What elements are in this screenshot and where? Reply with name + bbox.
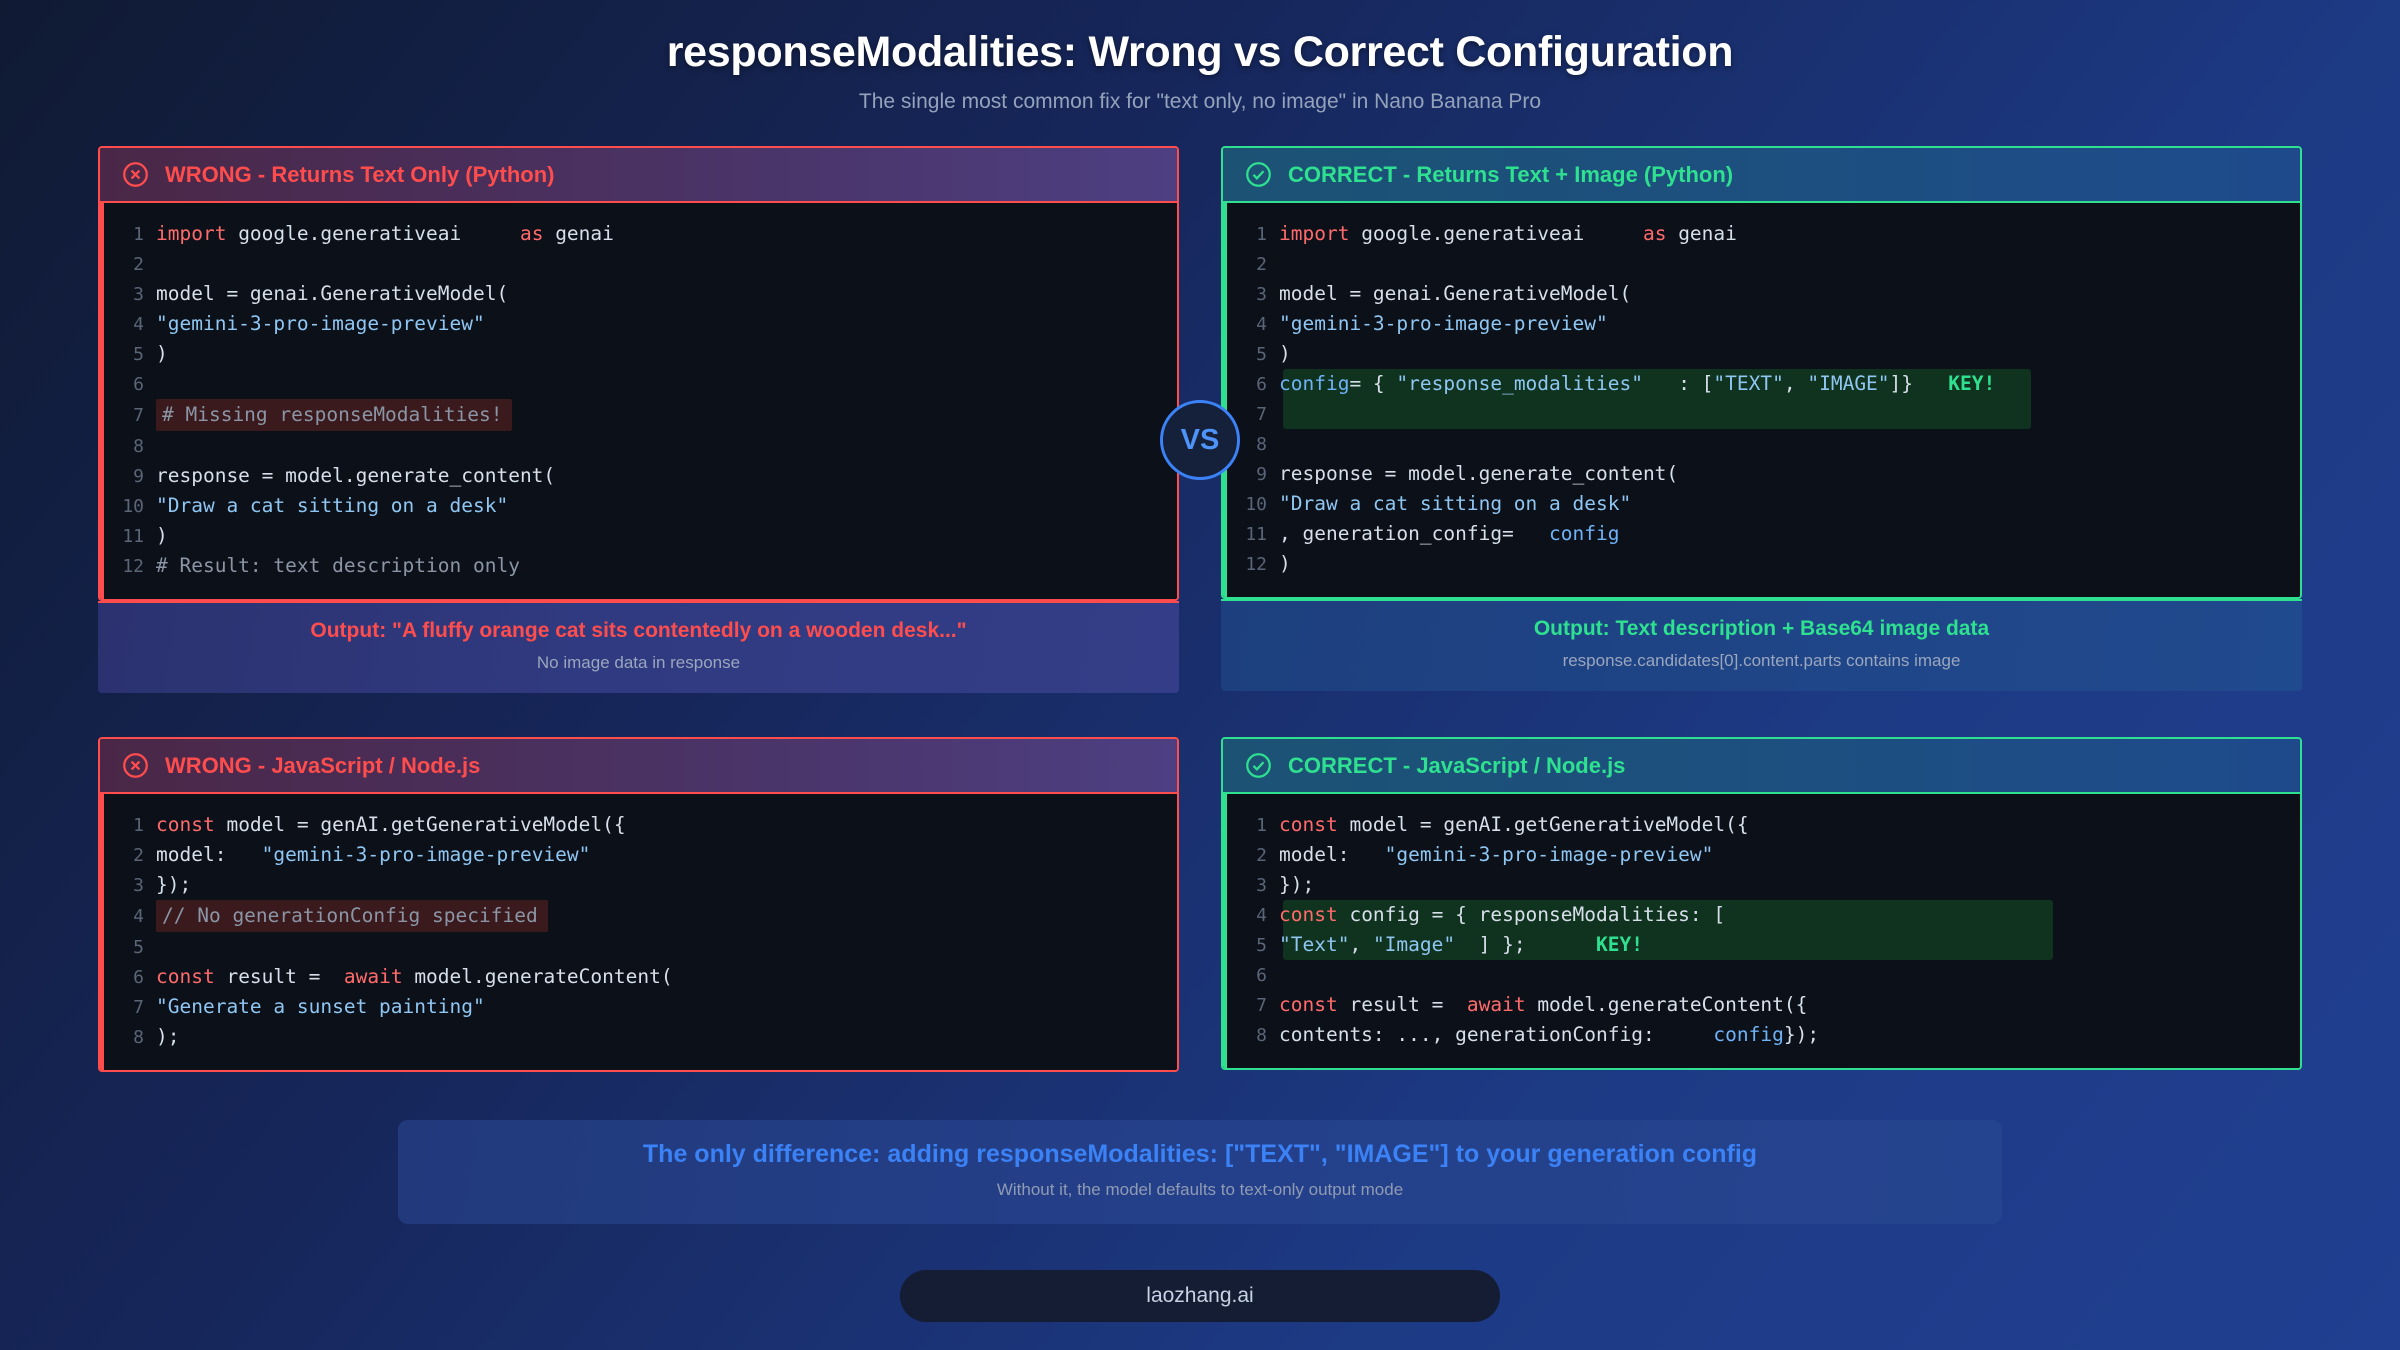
code-line: 4"gemini-3-pro-image-preview" <box>104 309 1177 339</box>
line-number: 9 <box>1227 460 1279 489</box>
code-line: 6const result = await model.generateCont… <box>104 962 1177 992</box>
line-number: 10 <box>104 492 156 521</box>
line-number: 5 <box>1227 340 1279 369</box>
line-number: 5 <box>1227 931 1279 960</box>
line-number: 11 <box>1227 520 1279 549</box>
code-text: import google.generativeai as genai <box>156 219 614 248</box>
line-number: 6 <box>104 963 156 992</box>
python-wrong-code[interactable]: 1import google.generativeai as genai2 3m… <box>100 203 1177 599</box>
code-line: 2model: "gemini-3-pro-image-preview" <box>104 840 1177 870</box>
line-number: 1 <box>104 220 156 249</box>
code-text: contents: ..., generationConfig: config}… <box>1279 1020 1819 1049</box>
code-line: 1import google.generativeai as genai <box>104 219 1177 249</box>
code-text <box>156 932 168 961</box>
code-line: 8contents: ..., generationConfig: config… <box>1227 1020 2300 1050</box>
code-text: const result = await model.generateConte… <box>156 962 673 991</box>
code-text: ) <box>1279 549 1291 578</box>
line-number: 5 <box>104 340 156 369</box>
python-correct-panel: CORRECT - Returns Text + Image (Python) … <box>1221 146 2302 599</box>
line-number: 1 <box>104 811 156 840</box>
code-text: import google.generativeai as genai <box>1279 219 1737 248</box>
code-text <box>156 431 168 460</box>
code-line: 2 <box>1227 249 2300 279</box>
line-number: 6 <box>1227 370 1279 399</box>
code-line: 8 <box>104 431 1177 461</box>
code-text: response = model.generate_content( <box>156 461 555 490</box>
code-line: 2model: "gemini-3-pro-image-preview" <box>1227 840 2300 870</box>
code-highlight-block: 6config= { "response_modalities" : ["TEX… <box>1227 369 2300 429</box>
code-text: model: "gemini-3-pro-image-preview" <box>1279 840 1713 869</box>
code-text: const config = { responseModalities: [ <box>1279 900 1725 929</box>
code-text: "Text", "Image" ] }; KEY! <box>1279 930 1643 959</box>
footer-brand[interactable]: laozhang.ai <box>900 1270 1500 1322</box>
code-line: 6config= { "response_modalities" : ["TEX… <box>1227 369 2300 399</box>
code-text: "gemini-3-pro-image-preview" <box>1279 309 1608 338</box>
code-text: config= { "response_modalities" : ["TEXT… <box>1279 369 1995 398</box>
code-line: 1const model = genAI.getGenerativeModel(… <box>104 810 1177 840</box>
line-number: 8 <box>104 432 156 461</box>
line-number: 2 <box>104 250 156 279</box>
code-line: 11, generation_config= config <box>1227 519 2300 549</box>
code-line: 4"gemini-3-pro-image-preview" <box>1227 309 2300 339</box>
line-number: 2 <box>1227 250 1279 279</box>
line-number: 4 <box>1227 901 1279 930</box>
comparison-grid: WRONG - Returns Text Only (Python) 1impo… <box>98 146 2302 1072</box>
code-text: ) <box>156 339 168 368</box>
line-number: 8 <box>104 1023 156 1052</box>
circle-x-icon <box>122 752 149 779</box>
python-wrong-panel: WRONG - Returns Text Only (Python) 1impo… <box>98 146 1179 601</box>
line-number: 5 <box>104 933 156 962</box>
line-number: 7 <box>1227 991 1279 1020</box>
code-text: # Result: text description only <box>156 551 520 580</box>
code-line: 4// No generationConfig specified <box>104 900 1177 932</box>
code-line: 2 <box>104 249 1177 279</box>
summary-headline: The only difference: adding responseModa… <box>418 1140 1982 1169</box>
code-text: "Generate a sunset painting" <box>156 992 485 1021</box>
code-text <box>1279 249 1291 278</box>
code-line: 4const config = { responseModalities: [ <box>1227 900 2300 930</box>
code-text: }); <box>1279 870 1314 899</box>
js-correct-header: CORRECT - JavaScript / Node.js <box>1223 739 2300 794</box>
panel-title: CORRECT - Returns Text + Image (Python) <box>1288 162 1733 188</box>
line-number: 3 <box>104 280 156 309</box>
js-correct-panel: CORRECT - JavaScript / Node.js 1const mo… <box>1221 737 2302 1070</box>
code-line: 3model = genai.GenerativeModel( <box>1227 279 2300 309</box>
code-line: 10"Draw a cat sitting on a desk" <box>1227 489 2300 519</box>
line-number: 1 <box>1227 811 1279 840</box>
code-line: 9response = model.generate_content( <box>104 461 1177 491</box>
output-headline: Output: Text description + Base64 image … <box>1241 617 2282 641</box>
line-number: 4 <box>1227 310 1279 339</box>
line-number: 6 <box>1227 961 1279 990</box>
code-line: 7 <box>1227 399 2300 429</box>
code-text <box>1279 399 1291 428</box>
code-line: 1import google.generativeai as genai <box>1227 219 2300 249</box>
panel-title: CORRECT - JavaScript / Node.js <box>1288 753 1625 779</box>
code-text <box>1279 960 1291 989</box>
code-line: 8); <box>104 1022 1177 1052</box>
code-text <box>156 249 168 278</box>
code-line: 6 <box>1227 960 2300 990</box>
line-number: 8 <box>1227 1021 1279 1050</box>
line-number: 12 <box>104 552 156 581</box>
code-text: "gemini-3-pro-image-preview" <box>156 309 485 338</box>
code-text: model = genai.GenerativeModel( <box>1279 279 1631 308</box>
python-correct-output: Output: Text description + Base64 image … <box>1221 599 2302 691</box>
code-text: ) <box>1279 339 1291 368</box>
line-number: 3 <box>1227 280 1279 309</box>
code-line: 10"Draw a cat sitting on a desk" <box>104 491 1177 521</box>
code-text: const model = genAI.getGenerativeModel({ <box>156 810 626 839</box>
python-correct-column: CORRECT - Returns Text + Image (Python) … <box>1221 146 2302 693</box>
panel-title: WRONG - Returns Text Only (Python) <box>165 162 554 188</box>
python-correct-header: CORRECT - Returns Text + Image (Python) <box>1223 148 2300 203</box>
code-text: // No generationConfig specified <box>156 900 548 932</box>
code-line: 5"Text", "Image" ] }; KEY! <box>1227 930 2300 960</box>
python-wrong-header: WRONG - Returns Text Only (Python) <box>100 148 1177 203</box>
code-text: # Missing responseModalities! <box>156 399 512 431</box>
code-text: , generation_config= config <box>1279 519 1619 548</box>
circle-check-icon <box>1245 752 1272 779</box>
line-number: 3 <box>1227 871 1279 900</box>
code-text: ); <box>156 1022 179 1051</box>
javascript-row: WRONG - JavaScript / Node.js 1const mode… <box>98 737 2302 1072</box>
line-number: 2 <box>104 841 156 870</box>
python-correct-code[interactable]: 1import google.generativeai as genai2 3m… <box>1223 203 2300 597</box>
code-text: model = genai.GenerativeModel( <box>156 279 508 308</box>
code-text: ) <box>156 521 168 550</box>
line-number: 4 <box>104 902 156 931</box>
code-line: 7"Generate a sunset painting" <box>104 992 1177 1022</box>
code-text: }); <box>156 870 191 899</box>
code-line: 12) <box>1227 549 2300 579</box>
panel-title: WRONG - JavaScript / Node.js <box>165 753 480 779</box>
code-text: const model = genAI.getGenerativeModel({ <box>1279 810 1749 839</box>
js-wrong-column: WRONG - JavaScript / Node.js 1const mode… <box>98 737 1179 1072</box>
code-text <box>156 369 168 398</box>
line-number: 3 <box>104 871 156 900</box>
line-number: 12 <box>1227 550 1279 579</box>
output-note: response.candidates[0].content.parts con… <box>1241 651 2282 671</box>
code-line: 3model = genai.GenerativeModel( <box>104 279 1177 309</box>
code-text: model: "gemini-3-pro-image-preview" <box>156 840 590 869</box>
code-text: response = model.generate_content( <box>1279 459 1678 488</box>
code-text: const result = await model.generateConte… <box>1279 990 1807 1019</box>
code-line: 6 <box>104 369 1177 399</box>
line-number: 7 <box>104 993 156 1022</box>
code-text: "Draw a cat sitting on a desk" <box>156 491 508 520</box>
line-number: 9 <box>104 462 156 491</box>
code-text <box>1279 429 1291 458</box>
code-line: 12# Result: text description only <box>104 551 1177 581</box>
code-line: 3}); <box>1227 870 2300 900</box>
output-headline: Output: "A fluffy orange cat sits conten… <box>118 619 1159 643</box>
line-number: 2 <box>1227 841 1279 870</box>
code-line: 11) <box>104 521 1177 551</box>
page-title: responseModalities: Wrong vs Correct Con… <box>0 0 2400 77</box>
js-wrong-header: WRONG - JavaScript / Node.js <box>100 739 1177 794</box>
line-number: 7 <box>104 401 156 430</box>
code-line: 9response = model.generate_content( <box>1227 459 2300 489</box>
code-line: 5) <box>1227 339 2300 369</box>
python-wrong-column: WRONG - Returns Text Only (Python) 1impo… <box>98 146 1179 693</box>
code-line: 8 <box>1227 429 2300 459</box>
output-note: No image data in response <box>118 653 1159 673</box>
code-line: 5 <box>104 932 1177 962</box>
line-number: 1 <box>1227 220 1279 249</box>
line-number: 10 <box>1227 490 1279 519</box>
code-line: 7const result = await model.generateCont… <box>1227 990 2300 1020</box>
circle-check-icon <box>1245 161 1272 188</box>
code-text: "Draw a cat sitting on a desk" <box>1279 489 1631 518</box>
code-line: 3}); <box>104 870 1177 900</box>
python-wrong-output: Output: "A fluffy orange cat sits conten… <box>98 601 1179 693</box>
code-highlight-block: 4const config = { responseModalities: [5… <box>1227 900 2300 960</box>
js-wrong-code[interactable]: 1const model = genAI.getGenerativeModel(… <box>100 794 1177 1070</box>
brand-label: laozhang.ai <box>1146 1284 1253 1308</box>
page-subtitle: The single most common fix for "text onl… <box>0 90 2400 114</box>
summary-note: Without it, the model defaults to text-o… <box>418 1180 1982 1200</box>
js-correct-code[interactable]: 1const model = genAI.getGenerativeModel(… <box>1223 794 2300 1068</box>
summary-banner: The only difference: adding responseModa… <box>398 1120 2002 1224</box>
code-line: 5) <box>104 339 1177 369</box>
js-wrong-panel: WRONG - JavaScript / Node.js 1const mode… <box>98 737 1179 1072</box>
code-line: 7# Missing responseModalities! <box>104 399 1177 431</box>
line-number: 11 <box>104 522 156 551</box>
code-line: 1const model = genAI.getGenerativeModel(… <box>1227 810 2300 840</box>
line-number: 6 <box>104 370 156 399</box>
line-number: 4 <box>104 310 156 339</box>
vs-badge: VS <box>1160 400 1240 480</box>
js-correct-column: CORRECT - JavaScript / Node.js 1const mo… <box>1221 737 2302 1072</box>
circle-x-icon <box>122 161 149 188</box>
